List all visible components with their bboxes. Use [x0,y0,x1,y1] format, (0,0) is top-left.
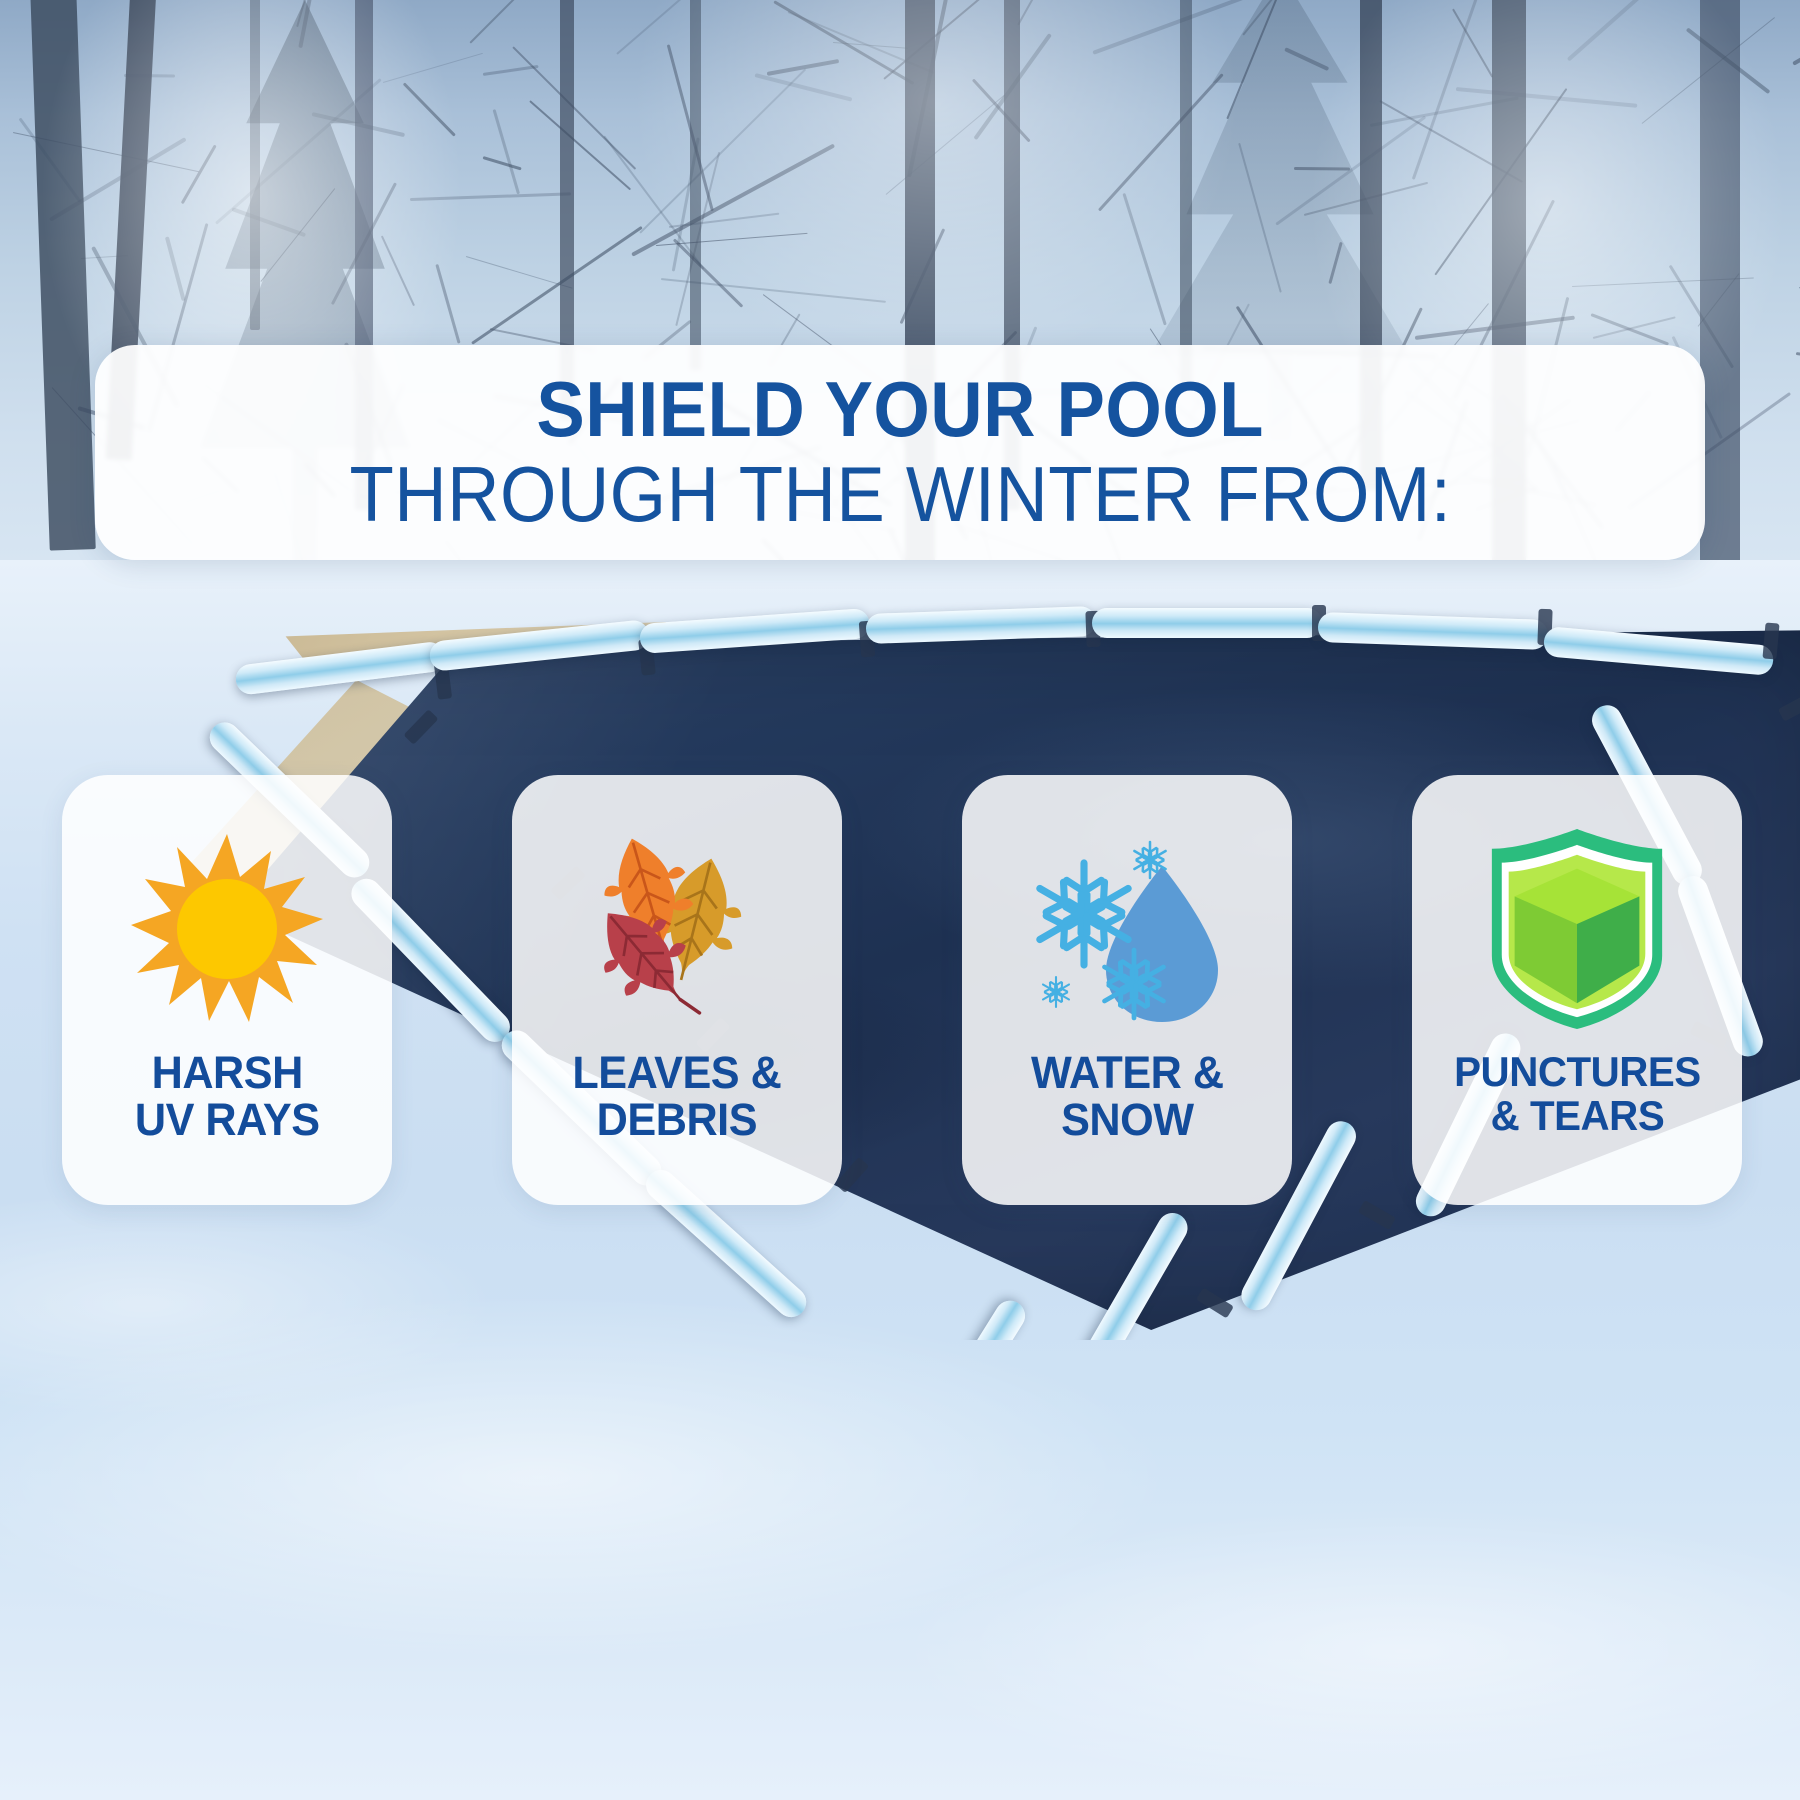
tree-branch [483,156,522,170]
tree-branch [1642,17,1776,124]
tree-branch [231,207,306,237]
tree-branch [755,73,853,102]
tree-trunk [250,0,260,330]
tree-branch [673,239,743,308]
tree-branch [471,226,643,345]
tree-branch [49,137,186,221]
label-line-2: DEBRIS [597,1094,757,1145]
tree-branch [483,65,538,76]
tree-branch [1294,167,1350,170]
tree-branch [833,42,908,49]
feature-card-label: LEAVES & DEBRIS [572,1050,781,1144]
feature-card-leaves-debris[interactable]: LEAVES & DEBRIS [512,775,842,1205]
tree-branch [907,0,948,177]
snowflake-waterdrop-icon [1022,821,1232,1036]
tree-branch [311,112,405,137]
tree-branch [299,0,342,48]
tree-branch [1370,96,1519,126]
label-line-2: SNOW [1061,1094,1193,1145]
tree-branch [1592,317,1675,340]
tree-branch [1415,316,1576,340]
water-tube [899,1295,1030,1340]
tree-branch [1572,277,1754,287]
tree-branch [381,235,415,306]
tree-branch [667,45,714,212]
tree-branch [884,0,988,80]
tree-branch [669,212,779,227]
tree-branch [1412,0,1490,180]
tree-branch [1380,101,1523,183]
tree-branch [81,255,128,259]
tree-branch [787,11,933,73]
label-line-1: LEAVES & [572,1047,781,1098]
tree-trunk [1700,0,1740,630]
tree-branch [767,59,840,76]
tree-branch [1792,0,1800,66]
tree-branch [19,117,82,202]
tree-branch [1276,115,1427,225]
feature-card-label: HARSH UV RAYS [135,1050,320,1144]
tree-branch [1122,193,1166,326]
label-line-1: HARSH [151,1047,302,1098]
tree-branch [383,52,483,82]
tree-branch [492,109,519,195]
feature-card-row: HARSH UV RAYS [62,775,1742,1215]
tree-branch [215,78,381,224]
tree-branch [900,228,946,324]
tree-branch [1591,313,1670,346]
label-line-2: & TEARS [1490,1092,1664,1139]
tree-branch [404,83,457,137]
tree-branch [1238,143,1282,293]
tree-branch [512,46,636,169]
label-line-1: WATER & [1031,1047,1224,1098]
tree-branch [260,188,335,282]
feature-card-water-snow[interactable]: WATER & SNOW [962,775,1292,1205]
tree-branch [603,136,704,271]
tree-branch [165,236,186,301]
tree-branch [632,143,836,256]
tree-trunk [1180,0,1192,390]
tree-branch [1098,73,1224,211]
label-line-2: UV RAYS [135,1094,320,1145]
tree-branch [180,144,216,204]
tree-branch [675,152,719,326]
tree-branch [616,0,703,55]
tree-branch [1093,0,1307,55]
tree-branch [436,264,461,344]
headline-banner: SHIELD YOUR POOL THROUGH THE WINTER FROM… [95,345,1705,560]
tree-branch [1242,0,1306,36]
tree-branch [1686,27,1770,94]
tree-branch [656,233,807,246]
tree-branch [1284,48,1329,72]
autumn-leaves-icon [572,821,782,1036]
tree-branch [639,68,806,234]
tree-branch [13,132,199,172]
tree-branch [330,183,396,305]
tree-branch [1435,88,1568,275]
feature-card-harsh-uv-rays[interactable]: HARSH UV RAYS [62,775,392,1205]
tree-branch [1328,242,1343,285]
tree-branch [1017,0,1060,26]
tree-branch [661,278,886,303]
tree-branch [296,0,316,27]
tree-branch [672,137,699,271]
tree-branch [972,78,1031,142]
tree-branch [1453,8,1494,77]
tree-branch [1567,0,1722,61]
tree-branch [1796,352,1800,382]
feature-card-label: WATER & SNOW [1031,1050,1224,1144]
tree-branch [1303,182,1427,216]
headline-line-1: SHIELD YOUR POOL [536,371,1264,447]
tree-branch [466,256,572,289]
shield-cube-icon [1472,821,1682,1036]
tree-branch [410,192,571,200]
feature-card-label: PUNCTURES & TEARS [1454,1050,1701,1137]
headline-line-2: THROUGH THE WINTER FROM: [349,455,1451,535]
tree-branch [1698,273,1740,327]
tree-trunk [690,0,701,370]
tree-branch [1227,0,1305,119]
water-tube [1092,608,1322,638]
tree-branch [773,0,914,85]
tree-branch [973,33,1052,140]
feature-card-punctures-tears[interactable]: PUNCTURES & TEARS [1412,775,1742,1205]
sun-icon [122,821,332,1036]
tree-branch [529,100,631,190]
tree-branch [1456,87,1637,107]
tree-branch [124,74,175,77]
tree-branch [469,0,552,44]
tree-branch [886,94,1006,195]
label-line-1: PUNCTURES [1454,1048,1701,1095]
tree-trunk [30,0,96,551]
